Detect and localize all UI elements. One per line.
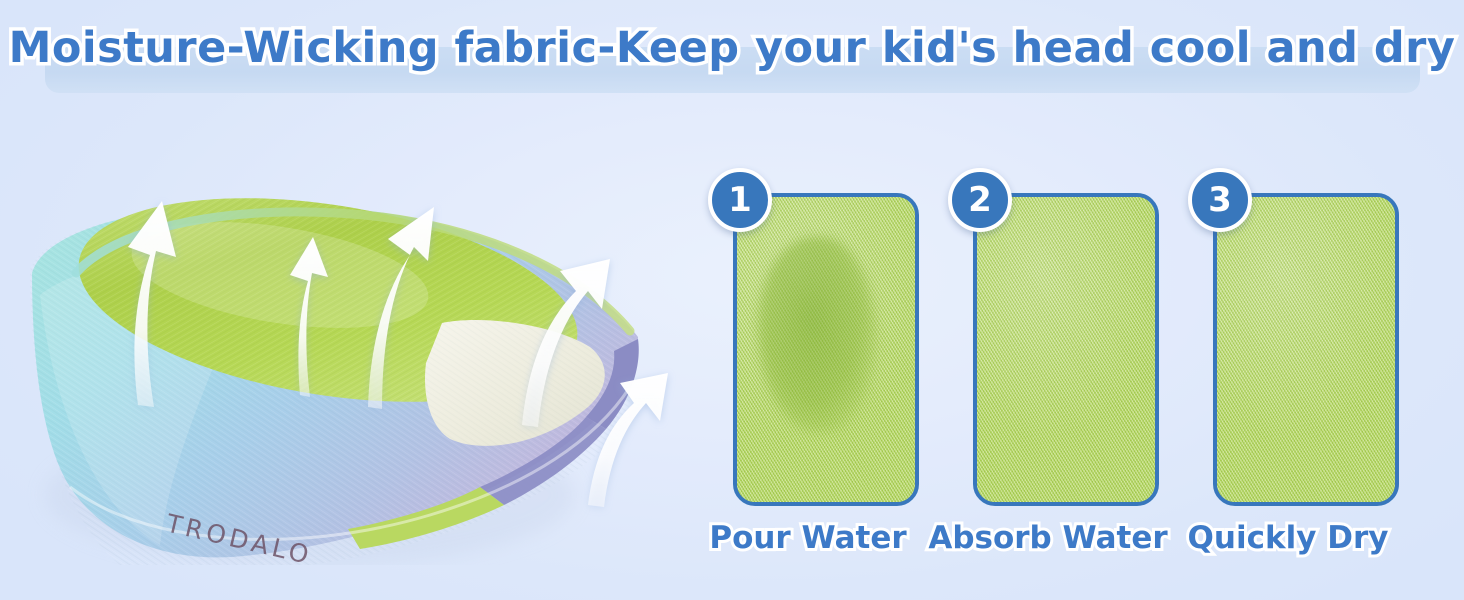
step-caption-2: Absorb Water: [918, 520, 1178, 556]
step-caption-1: Pour Water: [678, 520, 938, 556]
step-badge-2: 2: [948, 168, 1012, 232]
fabric-swatch-3: [1217, 197, 1395, 502]
step-card-3[interactable]: [1213, 193, 1399, 506]
steps-section: 1 Pour Water 2 Absorb Water 3 Quickly Dr…: [700, 168, 1440, 568]
step-badge-1: 1: [708, 168, 772, 232]
step-card-2[interactable]: [973, 193, 1159, 506]
airflow-arrows: [10, 95, 710, 565]
step-caption-3: Quickly Dry: [1158, 520, 1418, 556]
page-title: Moisture-Wicking fabric-Keep your kid's …: [0, 16, 1464, 80]
headband-illustration: TRODALO: [10, 95, 700, 565]
promo-banner: Moisture-Wicking fabric-Keep your kid's …: [0, 0, 1464, 600]
step-card-1[interactable]: [733, 193, 919, 506]
step-badge-3: 3: [1188, 168, 1252, 232]
fabric-swatch-2: [977, 197, 1155, 502]
wet-patch-1: [758, 237, 875, 432]
